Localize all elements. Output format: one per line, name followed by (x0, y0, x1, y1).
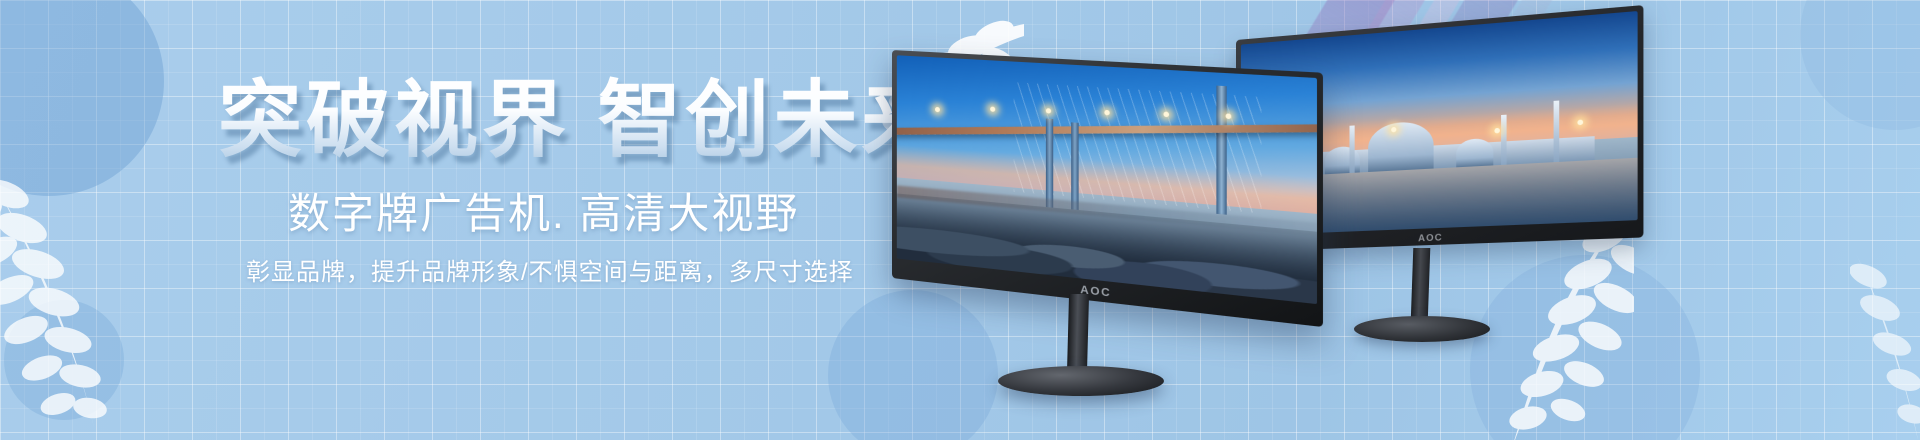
front-monitor-bezel: AOC (892, 50, 1323, 327)
front-monitor: AOC (892, 50, 1312, 350)
front-monitor-artwork (897, 55, 1317, 304)
subtitle: 数字牌广告机. 高清大视野 (288, 188, 799, 240)
front-monitor-stand-neck (1067, 294, 1089, 374)
banner-copy: 突破视界 智创未来 数字牌广告机. 高清大视野 彰显品牌，提升品牌形象/不惧空间… (0, 0, 900, 440)
decor-circle-far-right (1800, 0, 1920, 130)
back-monitor-stand-base (1354, 316, 1490, 342)
leaf-icon (1850, 250, 1920, 440)
front-monitor-stand-base (998, 366, 1164, 396)
tagline: 彰显品牌，提升品牌形象/不惧空间与距离，多尺寸选择 (246, 256, 854, 290)
back-monitor-stand-neck (1411, 248, 1431, 322)
decor-leaf-far-right (1850, 250, 1920, 440)
page-title: 突破视界 智创未来 (218, 72, 949, 168)
promo-banner: 突破视界 智创未来 数字牌广告机. 高清大视野 彰显品牌，提升品牌形象/不惧空间… (0, 0, 1920, 440)
front-monitor-screen (897, 55, 1317, 304)
back-monitor-brand-logo: AOC (1418, 232, 1443, 243)
